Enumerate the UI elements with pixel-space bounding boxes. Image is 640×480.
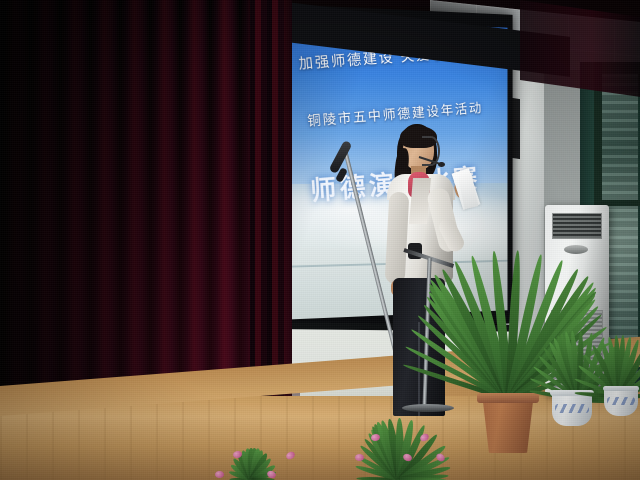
- large-palm-pot: [480, 395, 536, 453]
- grass-pot-rim: [603, 386, 640, 391]
- orchid-flower: [355, 454, 364, 461]
- headset-microphone-icon: [438, 162, 445, 167]
- grass-pot-pattern: [607, 397, 636, 405]
- large-palm-pot-rim: [477, 393, 539, 403]
- stage-curtain-left: [0, 0, 292, 430]
- foreground-orchid-right: [345, 418, 455, 480]
- microphone-stand-base: [402, 404, 454, 412]
- auditorium-scene: 加强师德建设 关爱学生成长 铜陵市五中师德建设年活动 师德演讲比赛: [0, 0, 640, 480]
- small-grass-pot: [604, 386, 638, 416]
- foreground-orchid-left: [205, 448, 300, 480]
- stage-curtain-right: [520, 0, 640, 97]
- orchid-flower: [285, 450, 296, 461]
- orchid-flower: [215, 471, 224, 478]
- fern-pot-pattern: [555, 404, 589, 413]
- stage-curtain-center-strip: [250, 0, 284, 420]
